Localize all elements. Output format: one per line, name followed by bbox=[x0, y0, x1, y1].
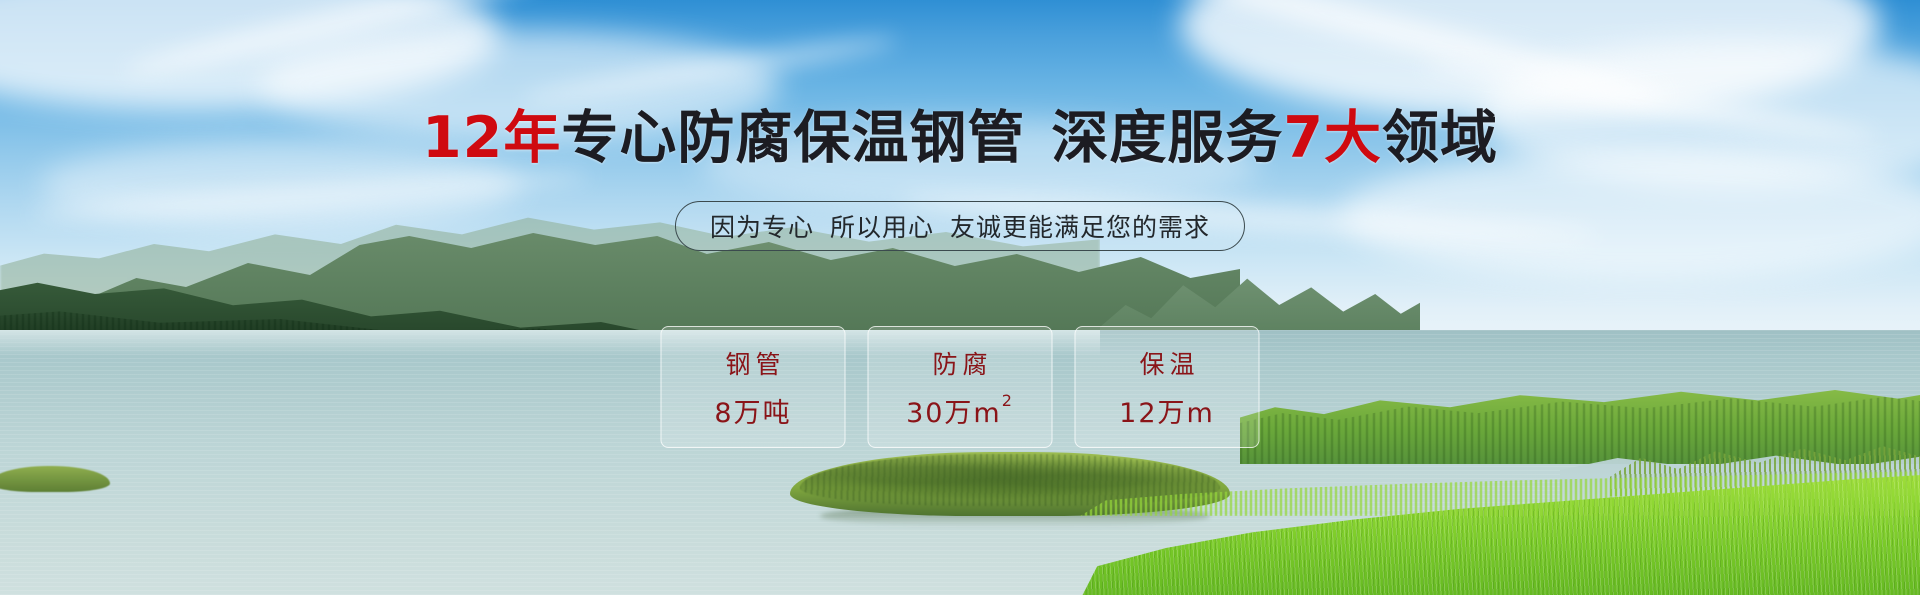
stat-card-group: 钢管 8万吨 防腐 30万m2 保温 12万m bbox=[661, 326, 1260, 448]
stat-value: 12万m bbox=[1119, 391, 1215, 430]
banner-headline: 12年专心防腐保温钢管深度服务7大领域 bbox=[0, 92, 1920, 174]
headline-years: 12年 bbox=[422, 105, 561, 171]
headline-service: 深度服务 bbox=[1051, 105, 1283, 171]
stat-value-text: 12万m bbox=[1119, 391, 1215, 430]
stat-value: 30万m2 bbox=[906, 391, 1014, 430]
stat-value-text: 8万吨 bbox=[714, 391, 791, 430]
stat-title: 保温 bbox=[1134, 345, 1199, 381]
banner-subtitle-pill: 因为专心所以用心友诚更能满足您的需求 bbox=[675, 201, 1245, 251]
stat-title: 钢管 bbox=[720, 345, 785, 381]
stat-card-anticorrosion[interactable]: 防腐 30万m2 bbox=[868, 326, 1053, 448]
headline-main: 专心防腐保温钢管 bbox=[561, 105, 1025, 171]
stat-title: 防腐 bbox=[927, 345, 992, 381]
promo-banner: 12年专心防腐保温钢管深度服务7大领域 因为专心所以用心友诚更能满足您的需求 钢… bbox=[0, 0, 1920, 595]
stat-value-text: 30万m bbox=[906, 391, 1002, 430]
stat-card-insulation[interactable]: 保温 12万m bbox=[1075, 326, 1260, 448]
subtitle-seg-2: 所以用心 bbox=[830, 208, 934, 244]
banner-content: 12年专心防腐保温钢管深度服务7大领域 因为专心所以用心友诚更能满足您的需求 钢… bbox=[0, 0, 1920, 595]
subtitle-seg-1: 因为专心 bbox=[710, 208, 814, 244]
stat-value: 8万吨 bbox=[714, 391, 791, 430]
subtitle-seg-3: 友诚更能满足您的需求 bbox=[950, 208, 1210, 244]
stat-value-superscript: 2 bbox=[1002, 393, 1014, 409]
headline-sectors-count: 7大 bbox=[1283, 105, 1382, 171]
headline-sectors: 领域 bbox=[1382, 105, 1498, 171]
stat-card-steel-pipe[interactable]: 钢管 8万吨 bbox=[661, 326, 846, 448]
